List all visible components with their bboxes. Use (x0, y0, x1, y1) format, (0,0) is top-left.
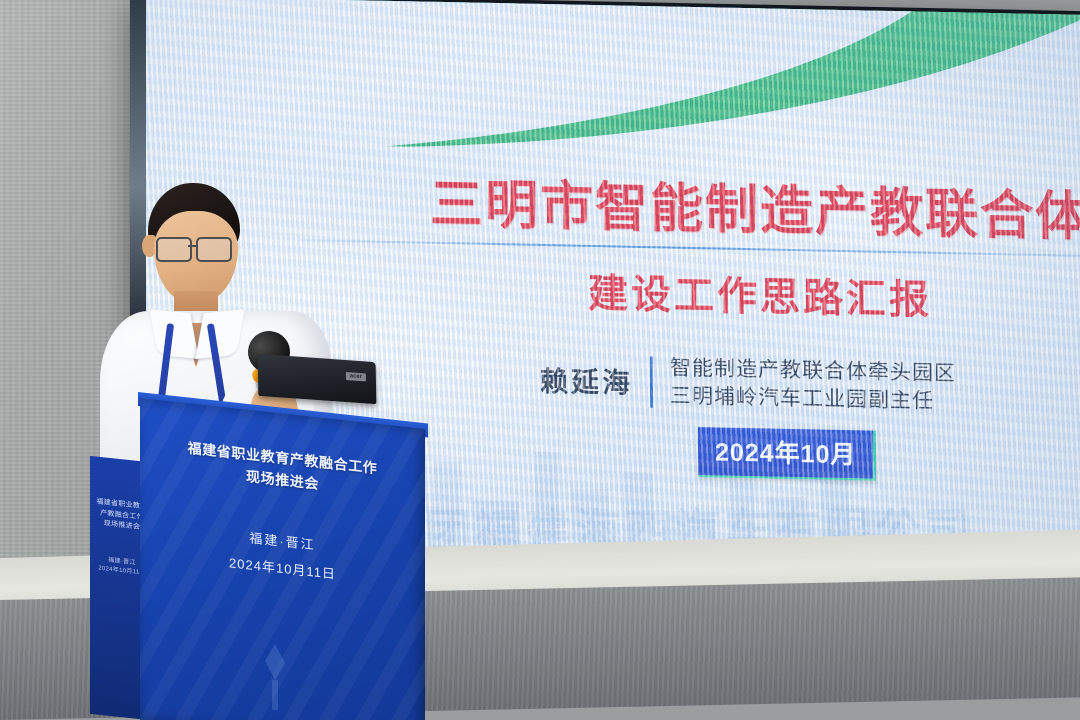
presenter-divider-bar (650, 356, 653, 408)
presenter-role: 智能制造产教联合体牵头园区 三明埔岭汽车工业园副主任 (670, 355, 956, 416)
date-badge-wrapper: 2024年10月 (145, 144, 1080, 163)
laptop-brand-logo: acer (346, 372, 366, 381)
glasses-right-lens (196, 237, 232, 262)
laptop: acer (258, 354, 377, 404)
conference-photo-scene: 三明市智能制造产教联合体 建设工作思路汇报 赖延海 智能制造产教联合体牵头园区 … (0, 0, 1080, 720)
speaker-glasses (148, 237, 244, 259)
podium-emblem-icon (245, 637, 305, 718)
presenter-role-line2: 三明埔岭汽车工业园副主任 (670, 382, 956, 415)
glasses-bridge (188, 245, 196, 247)
slide-title-sub: 建设工作思路汇报 (588, 261, 1008, 327)
presenter-block: 赖延海 智能制造产教联合体牵头园区 三明埔岭汽车工业园副主任 (540, 352, 956, 416)
presenter-name: 赖延海 (540, 360, 633, 402)
slide-title-main: 三明市智能制造产教联合体 (430, 162, 1080, 252)
slide-date-badge: 2024年10月 (698, 427, 876, 481)
glasses-left-lens (156, 237, 192, 262)
